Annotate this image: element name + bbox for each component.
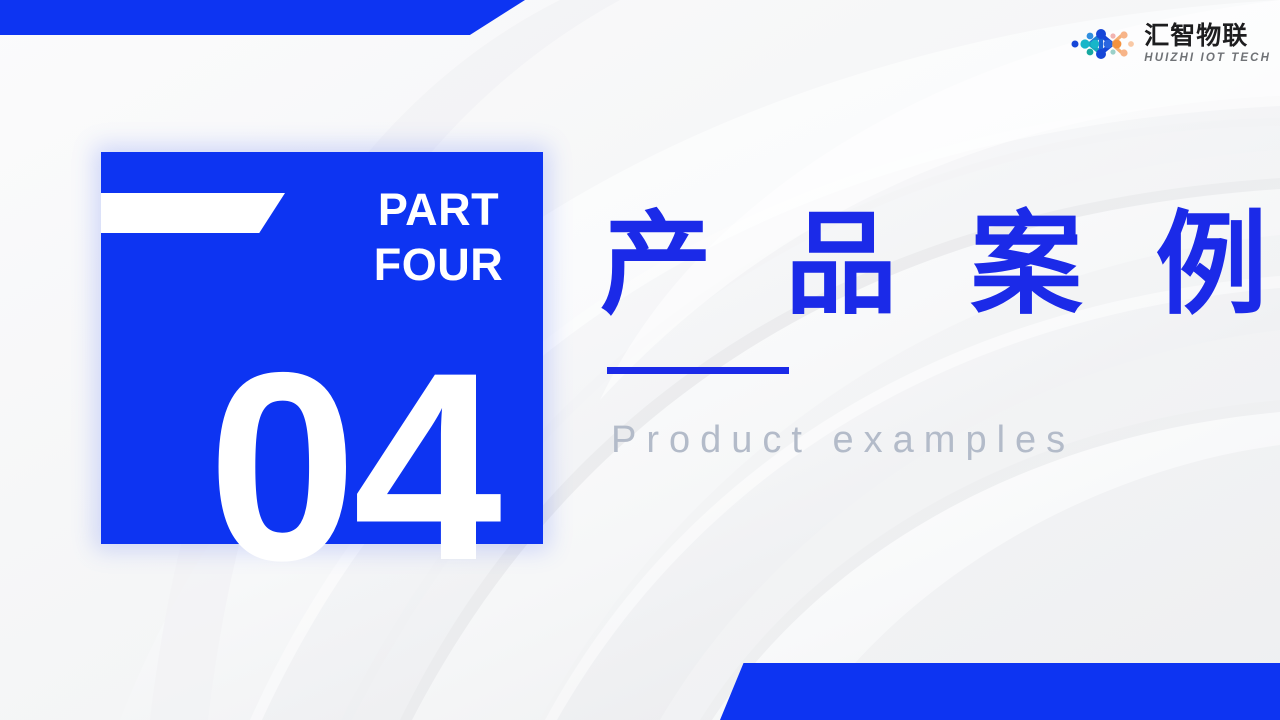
divider-bar [101, 193, 285, 233]
page-title: 产 品 案 例 [600, 206, 1280, 324]
page-subtitle: Product examples [611, 419, 1075, 462]
bottom-right-accent-bar [720, 663, 1280, 720]
logo-wordmark: 汇智物联 HUIZHI IOT TECH [1144, 24, 1271, 65]
huizhi-molecule-logomark [1064, 25, 1138, 63]
title-block: 产 品 案 例 Product examples [600, 206, 1280, 324]
brand-logo: 汇智物联 HUIZHI IOT TECH [1064, 24, 1271, 65]
top-left-accent-bar [0, 0, 525, 35]
part-label: PART FOUR [351, 183, 526, 293]
section-number-card: PART FOUR 04 [101, 152, 543, 544]
section-number: 04 [101, 332, 543, 600]
slide-canvas: PART FOUR 04 产 品 案 例 Product examples [0, 0, 1280, 720]
logo-name-cn: 汇智物联 [1144, 24, 1248, 49]
title-underline [607, 367, 789, 374]
logo-name-en: HUIZHI IOT TECH [1144, 53, 1271, 65]
